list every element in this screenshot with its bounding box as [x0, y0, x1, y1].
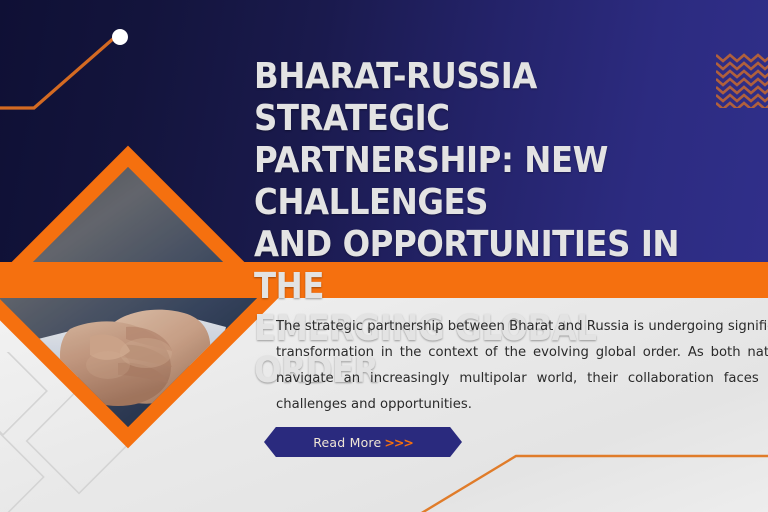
body-paragraph: The strategic partnership between Bharat… — [276, 314, 768, 418]
zigzag-decoration-icon — [716, 52, 768, 108]
accent-polyline-bottom-right — [420, 448, 768, 512]
read-more-label: Read More — [313, 435, 381, 450]
banner-root: BHARAT-RUSSIA STRATEGIC PARTNERSHIP: NEW… — [0, 0, 768, 512]
accent-dot-icon — [112, 29, 128, 45]
chevron-right-icon: >>> — [384, 435, 412, 450]
